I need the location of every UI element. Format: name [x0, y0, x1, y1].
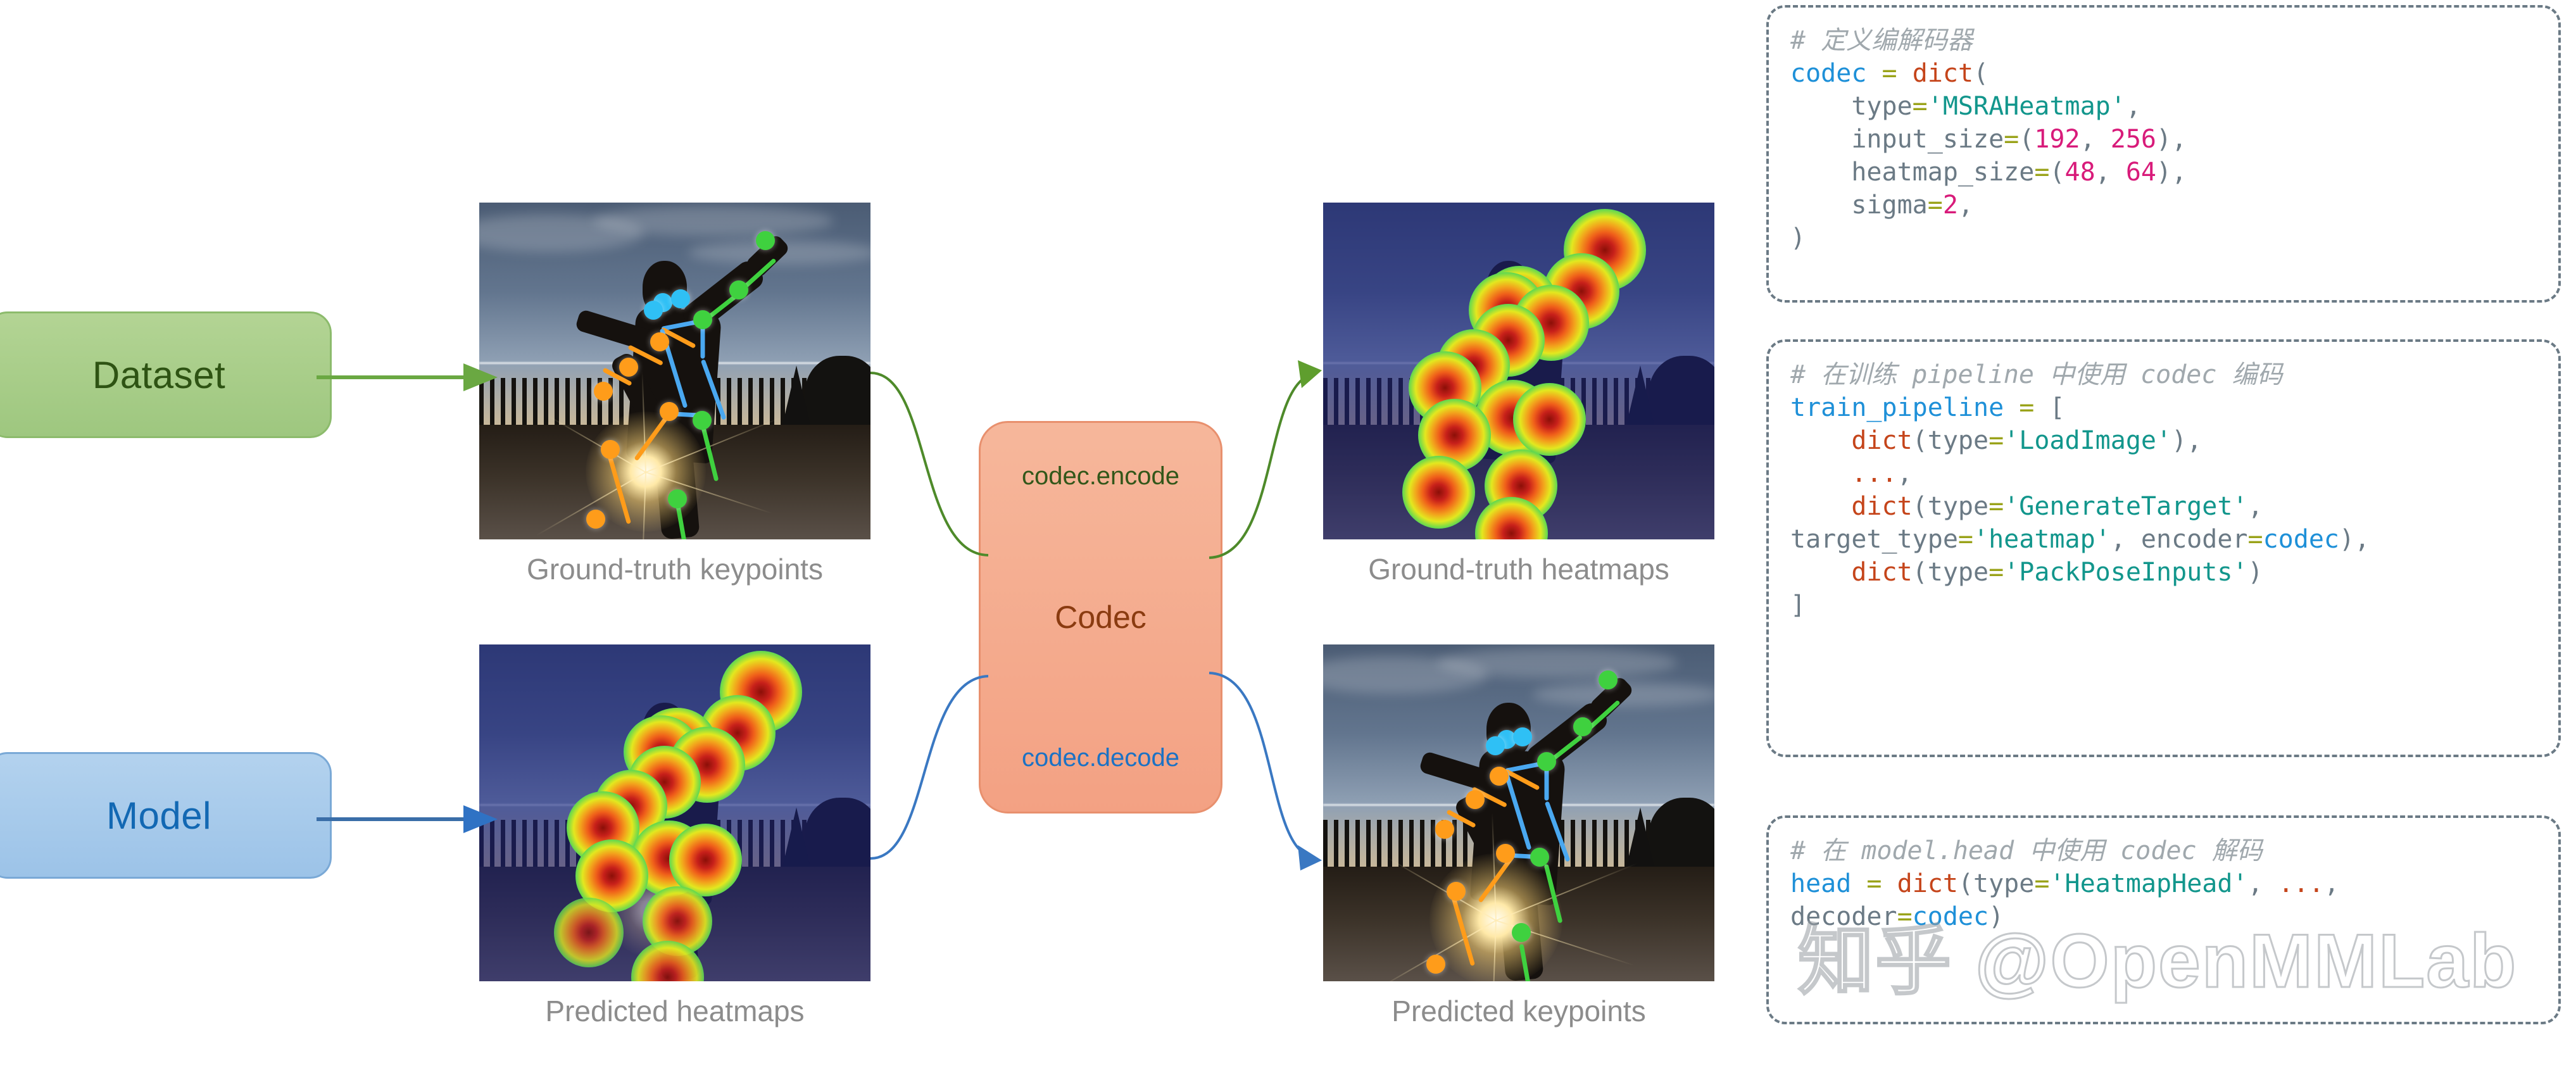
- cloud: [593, 206, 834, 236]
- keypoint: [1513, 727, 1532, 746]
- keypoint: [586, 510, 605, 529]
- keypoint: [1435, 820, 1454, 839]
- predicted-keypoints-caption: Predicted keypoints: [1323, 994, 1714, 1028]
- keypoint: [1573, 717, 1592, 736]
- dataset-label: Dataset: [92, 353, 225, 397]
- model-node[interactable]: Model: [0, 752, 332, 879]
- keypoint: [594, 382, 613, 401]
- cloud: [1437, 648, 1678, 678]
- keypoint: [601, 440, 620, 459]
- arrow-decode-curve-in: [870, 671, 991, 861]
- codec-title-label: Codec: [1055, 599, 1147, 636]
- keypoint: [693, 411, 712, 430]
- keypoint: [644, 301, 663, 320]
- heatmap-blob: [554, 898, 624, 967]
- codec-node[interactable]: codec.encode Codec codec.decode: [979, 421, 1222, 814]
- keypoint: [693, 310, 712, 329]
- code-text-train-pipeline: # 在训练 pipeline 中使用 codec 编码 train_pipeli…: [1790, 358, 2537, 622]
- code-panel-train-pipeline[interactable]: # 在训练 pipeline 中使用 codec 编码 train_pipeli…: [1766, 339, 2561, 757]
- keypoint: [1530, 848, 1549, 867]
- arrow-model-to-image: [317, 784, 506, 860]
- codec-decode-label: codec.decode: [1022, 744, 1179, 772]
- predicted-heatmaps-image: [479, 644, 870, 981]
- keypoint: [1426, 955, 1445, 974]
- heatmap-blob: [669, 824, 742, 896]
- code-panel-model-head[interactable]: # 在 model.head 中使用 codec 解码 head = dict(…: [1766, 815, 2561, 1024]
- arrow-encode-curve-in: [870, 370, 991, 560]
- keypoint: [1496, 844, 1515, 863]
- code-text-codec-definition: # 定义编解码器 codec = dict( type='MSRAHeatmap…: [1790, 24, 2537, 254]
- keypoint: [1599, 670, 1618, 689]
- arrow-encode-curve-out: [1209, 351, 1329, 560]
- ground-truth-heatmaps-caption: Ground-truth heatmaps: [1323, 552, 1714, 586]
- keypoint: [1490, 767, 1509, 786]
- keypoint: [1486, 736, 1505, 755]
- arrow-decode-curve-out: [1209, 668, 1329, 877]
- keypoint: [668, 489, 687, 508]
- keypoint: [671, 289, 690, 308]
- codec-encode-label: codec.encode: [1022, 462, 1179, 491]
- predicted-keypoints-image: [1323, 644, 1714, 981]
- code-text-model-head: # 在 model.head 中使用 codec 解码 head = dict(…: [1790, 834, 2537, 933]
- keypoint: [729, 280, 748, 299]
- heatmap-blob: [1402, 456, 1475, 529]
- predicted-heatmaps-caption: Predicted heatmaps: [479, 994, 870, 1028]
- model-label: Model: [106, 794, 211, 838]
- keypoint: [619, 358, 638, 377]
- keypoint: [650, 332, 669, 351]
- keypoint: [756, 231, 775, 250]
- keypoint: [660, 402, 679, 421]
- code-comment: # 在训练 pipeline 中使用 codec 编码: [1790, 360, 2283, 389]
- arrow-dataset-to-image: [317, 342, 506, 418]
- dataset-node[interactable]: Dataset: [0, 311, 332, 438]
- keypoint: [1466, 790, 1485, 809]
- code-panel-codec-definition[interactable]: # 定义编解码器 codec = dict( type='MSRAHeatmap…: [1766, 5, 2561, 303]
- ground-truth-keypoints-caption: Ground-truth keypoints: [479, 552, 870, 586]
- ground-truth-keypoints-image: [479, 203, 870, 539]
- heatmap-blob: [1513, 383, 1586, 456]
- keypoint: [1537, 752, 1556, 771]
- ground-truth-heatmaps-image: [1323, 203, 1714, 539]
- code-comment: # 定义编解码器: [1790, 26, 1973, 55]
- keypoint: [1512, 923, 1531, 942]
- code-comment: # 在 model.head 中使用 codec 解码: [1790, 836, 2263, 865]
- keypoint: [1447, 882, 1466, 901]
